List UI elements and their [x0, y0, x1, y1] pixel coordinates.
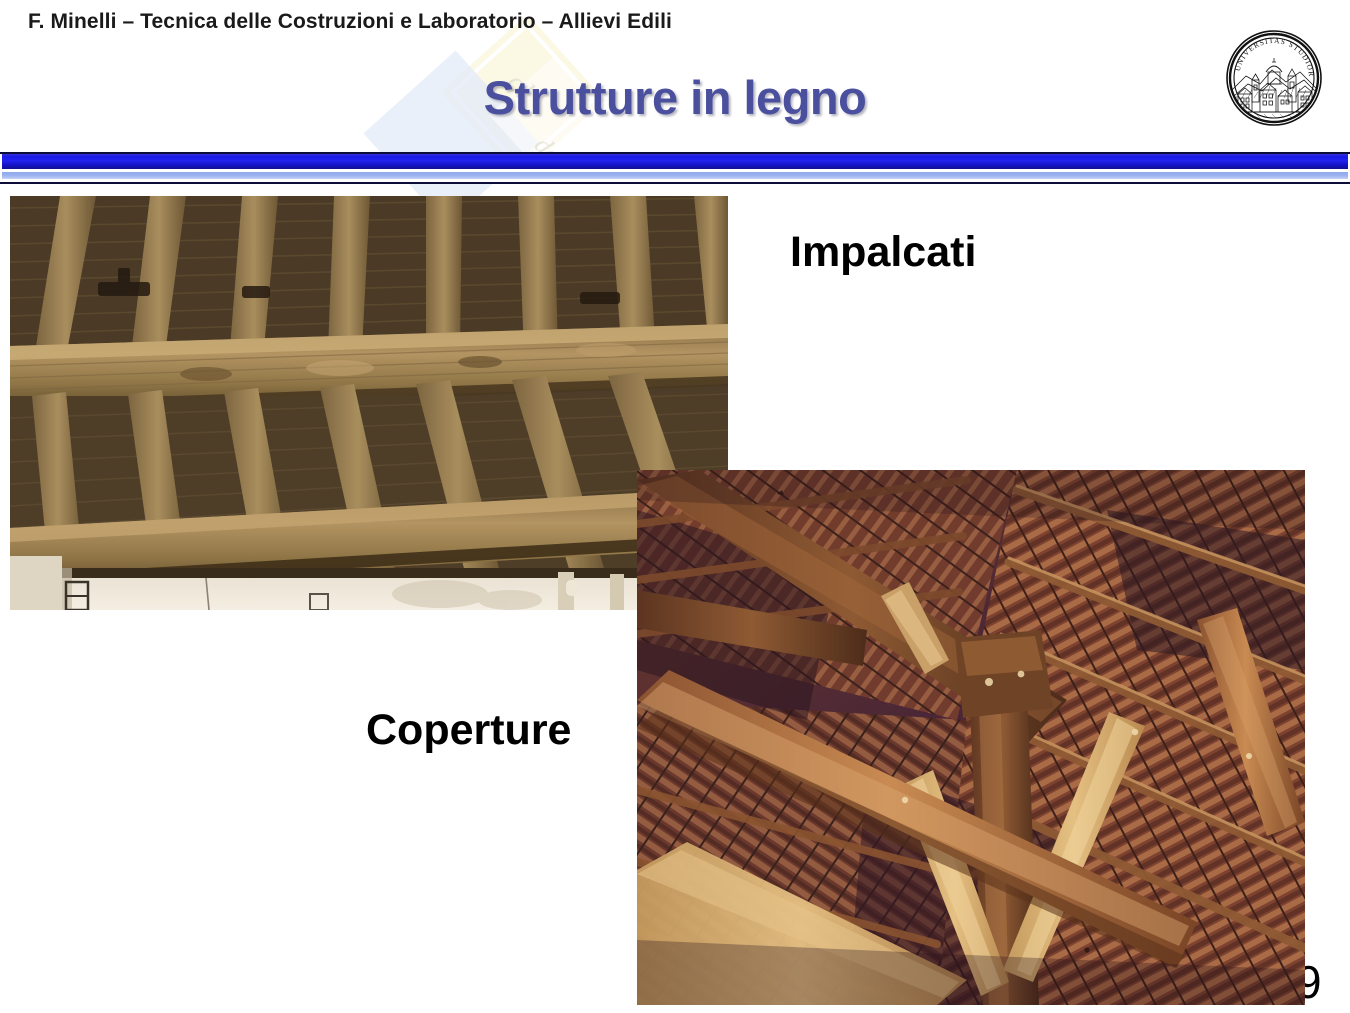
divider-light-bar: [2, 172, 1348, 179]
divider-bottom-gap: [2, 179, 1348, 182]
divider-main-bar: [2, 154, 1348, 169]
university-seal-icon: UNIVERSITAS STUDIORUM BRIXIAE: [1222, 18, 1326, 136]
timber-floor-structure-photo: [10, 196, 728, 610]
title-divider-bar: [0, 152, 1350, 184]
page-title: Strutture in legno: [0, 70, 1350, 125]
caption-coperture: Coperture: [366, 706, 571, 755]
caption-impalcati: Impalcati: [790, 228, 976, 277]
slide-canvas: ol denc F. Minelli – Tecnica delle Costr…: [0, 0, 1350, 1013]
timber-roof-structure-photo: [637, 470, 1305, 1005]
presentation-header: F. Minelli – Tecnica delle Costruzioni e…: [28, 10, 672, 34]
